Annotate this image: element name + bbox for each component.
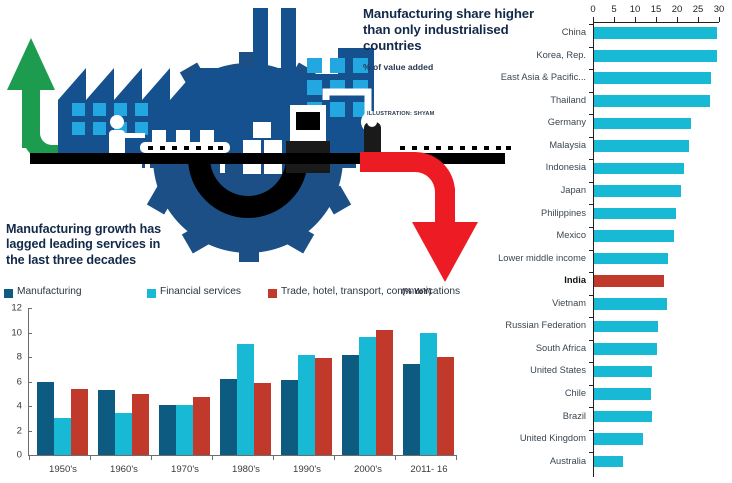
bar-chart-row-tick: [589, 407, 594, 408]
column-chart-bar[interactable]: [237, 344, 254, 455]
column-chart-bar[interactable]: [159, 405, 176, 455]
column-chart-group[interactable]: [220, 308, 281, 455]
column-chart-bar[interactable]: [403, 364, 420, 455]
column-chart-group[interactable]: [281, 308, 342, 455]
column-chart-y-label: 4: [17, 401, 22, 412]
bar-chart-bar[interactable]: [594, 118, 691, 130]
bar-chart-tick: [614, 17, 615, 22]
bar-chart-row-tick: [589, 114, 594, 115]
illustration-credit: ILLUSTRATION: SHYAM: [367, 110, 435, 118]
bar-chart-row-tick: [589, 204, 594, 205]
column-chart-bar[interactable]: [254, 383, 271, 455]
column-chart-bar[interactable]: [71, 389, 88, 455]
bar-chart-tick: [698, 17, 699, 22]
bar-chart-row[interactable]: Australia: [460, 452, 732, 475]
column-chart-bar[interactable]: [420, 333, 437, 456]
bar-chart-bar[interactable]: [594, 456, 623, 468]
legend-swatch: [147, 289, 156, 298]
bar-chart-category-label: China: [562, 27, 586, 37]
bar-chart-top-axis: [593, 22, 719, 23]
column-chart-unit-label: (% YoY): [402, 287, 431, 296]
bar-chart-tick: [593, 17, 594, 22]
bar-chart-row-tick: [589, 295, 594, 296]
bar-chart-row-tick: [589, 47, 594, 48]
column-chart-x-tick: [273, 455, 274, 460]
bar-chart-category-label: East Asia & Pacific...: [501, 72, 586, 82]
bar-chart-bar[interactable]: [594, 253, 668, 265]
column-chart-y-tick: [28, 308, 32, 309]
bar-chart-row-tick: [589, 340, 594, 341]
bar-chart-category-label: Malaysia: [549, 140, 586, 150]
bar-chart-row[interactable]: South Africa: [460, 340, 732, 363]
bar-chart-category-label: Lower middle income: [498, 253, 586, 263]
column-chart-x-tick: [151, 455, 152, 460]
bar-chart-row[interactable]: Chile: [460, 385, 732, 408]
column-chart-y-tick: [28, 357, 32, 358]
column-chart-group[interactable]: [37, 308, 98, 455]
manufacturing-share-bar-chart: 051015202530 ChinaKorea, Rep.East Asia &…: [460, 0, 732, 483]
bar-chart-tick-label: 15: [651, 4, 662, 15]
bar-chart-row-tick: [589, 92, 594, 93]
column-chart-y-tick: [28, 406, 32, 407]
column-chart-y-label: 10: [11, 327, 22, 338]
bar-chart-row[interactable]: Malaysia: [460, 137, 732, 160]
column-chart-bar[interactable]: [37, 382, 54, 456]
bar-chart-bar[interactable]: [594, 343, 657, 355]
bar-chart-category-label: Mexico: [557, 230, 586, 240]
column-chart-x-tick: [212, 455, 213, 460]
column-chart-bar[interactable]: [54, 418, 71, 455]
bar-chart-row-tick: [589, 362, 594, 363]
bar-chart-bar[interactable]: [594, 366, 652, 378]
bar-chart-row-tick: [589, 227, 594, 228]
bar-chart-row[interactable]: Indonesia: [460, 159, 732, 182]
bar-chart-category-label: Brazil: [563, 411, 586, 421]
bar-chart-row[interactable]: Philippines: [460, 204, 732, 227]
bar-chart-bar[interactable]: [594, 72, 711, 84]
bar-chart-row-tick: [589, 159, 594, 160]
column-chart-y-label: 8: [17, 352, 22, 363]
bar-chart-bar[interactable]: [594, 163, 684, 175]
bar-chart-category-label: Indonesia: [546, 162, 586, 172]
bar-chart-category-label: South Africa: [536, 343, 586, 353]
bar-chart-category-label: Korea, Rep.: [536, 50, 586, 60]
bar-chart-bar[interactable]: [594, 50, 717, 62]
column-chart-x-tick: [395, 455, 396, 460]
legend-swatch: [4, 289, 13, 298]
infographic-root: Manufacturing share higher than only ind…: [0, 0, 732, 483]
bar-chart-tick-label: 30: [714, 4, 725, 15]
column-chart-y-label: 2: [17, 425, 22, 436]
legend-label: Trade, hotel, transport, communications: [281, 286, 460, 297]
bar-chart-tick-label: 0: [590, 4, 595, 15]
column-chart-x-label: 2011- 16: [410, 464, 447, 475]
column-chart-bar[interactable]: [220, 379, 237, 455]
column-chart-x-label: 1980's: [232, 464, 260, 475]
bar-chart-row[interactable]: Germany: [460, 114, 732, 137]
bar-chart-tick-label: 25: [693, 4, 704, 15]
column-chart-y-tick: [28, 382, 32, 383]
bar-chart-tick-label: 20: [672, 4, 683, 15]
right-chart-subtitle: % of value added: [363, 62, 433, 72]
factory-building: [58, 8, 374, 160]
bar-chart-bar[interactable]: [594, 185, 681, 197]
bar-chart-tick: [635, 17, 636, 22]
bar-chart-category-label: United States: [530, 365, 586, 375]
column-chart-x-axis: [28, 455, 456, 456]
bar-chart-tick: [656, 17, 657, 22]
manufacturing-growth-column-chart: ManufacturingFinancial servicesTrade, ho…: [0, 286, 460, 483]
column-chart-y-label: 0: [17, 450, 22, 461]
bar-chart-category-label: United Kingdom: [520, 433, 586, 443]
column-chart-bar[interactable]: [376, 330, 393, 455]
bar-chart-row-tick: [589, 385, 594, 386]
bar-chart-tick: [719, 17, 720, 22]
column-chart-bar[interactable]: [176, 405, 193, 455]
column-chart-y-label: 6: [17, 376, 22, 387]
bar-chart-bar[interactable]: [594, 298, 667, 310]
bar-chart-category-label: Thailand: [550, 95, 586, 105]
bar-chart-category-label: Australia: [550, 456, 586, 466]
bar-chart-bar[interactable]: [594, 321, 658, 333]
bar-chart-category-label: Germany: [548, 117, 586, 127]
column-chart-y-tick: [28, 431, 32, 432]
column-chart-group[interactable]: [159, 308, 220, 455]
bar-chart-row-tick: [589, 182, 594, 183]
bar-chart-row-tick: [589, 317, 594, 318]
column-chart-x-label: 2000's: [354, 464, 382, 475]
column-chart-x-label: 1960's: [110, 464, 138, 475]
bar-chart-bar[interactable]: [594, 95, 710, 107]
bar-chart-row-tick: [589, 430, 594, 431]
bar-chart-category-label: Vietnam: [552, 298, 586, 308]
column-chart-bar[interactable]: [437, 357, 454, 455]
bar-chart-row[interactable]: Russian Federation: [460, 317, 732, 340]
column-chart-bar[interactable]: [315, 358, 332, 455]
column-chart-bar[interactable]: [359, 337, 376, 455]
bar-chart-bar[interactable]: [594, 433, 643, 445]
bar-chart-row[interactable]: China: [460, 24, 732, 47]
bar-chart-bar[interactable]: [594, 388, 651, 400]
bar-chart-tick-label: 10: [630, 4, 641, 15]
bar-chart-row[interactable]: India: [460, 272, 732, 295]
column-chart-y-label: 12: [11, 303, 22, 314]
bottom-chart-headline: Manufacturing growth has lagged leading …: [6, 222, 181, 268]
bar-chart-category-label: Philippines: [541, 208, 586, 218]
bar-chart-tick: [677, 17, 678, 22]
bar-chart-row-tick: [589, 137, 594, 138]
column-chart-bar[interactable]: [115, 413, 132, 455]
column-chart-bar[interactable]: [281, 380, 298, 455]
column-chart-x-tick: [90, 455, 91, 460]
bar-chart-tick-label: 5: [611, 4, 616, 15]
bar-chart-row[interactable]: Thailand: [460, 92, 732, 115]
bar-chart-row[interactable]: United Kingdom: [460, 430, 732, 453]
bar-chart-bar[interactable]: [594, 275, 664, 287]
column-chart-y-tick: [28, 333, 32, 334]
column-chart-bar[interactable]: [98, 390, 115, 455]
column-chart-group[interactable]: [98, 308, 159, 455]
bar-chart-row[interactable]: Brazil: [460, 407, 732, 430]
legend-swatch: [268, 289, 277, 298]
bar-chart-bar[interactable]: [594, 411, 652, 423]
bar-chart-row-tick: [589, 24, 594, 25]
bar-chart-row[interactable]: Lower middle income: [460, 250, 732, 273]
column-chart-x-tick: [456, 455, 457, 460]
bar-chart-row-tick: [589, 250, 594, 251]
column-chart-group[interactable]: [403, 308, 464, 455]
bar-chart-bar[interactable]: [594, 208, 676, 220]
column-chart-x-tick: [334, 455, 335, 460]
column-chart-x-tick: [29, 455, 30, 460]
legend-label: Manufacturing: [17, 286, 82, 297]
bar-chart-row-tick: [589, 272, 594, 273]
bar-chart-bar[interactable]: [594, 140, 689, 152]
column-chart-x-label: 1950's: [49, 464, 77, 475]
bar-chart-category-label: Russian Federation: [505, 320, 586, 330]
bar-chart-row[interactable]: Mexico: [460, 227, 732, 250]
column-chart-bar[interactable]: [342, 355, 359, 455]
column-chart-x-label: 1970's: [171, 464, 199, 475]
column-chart-x-label: 1990's: [293, 464, 321, 475]
column-chart-bar[interactable]: [298, 355, 315, 455]
bar-chart-row[interactable]: United States: [460, 362, 732, 385]
bar-chart-row[interactable]: Japan: [460, 182, 732, 205]
bar-chart-row[interactable]: East Asia & Pacific...: [460, 69, 732, 92]
bar-chart-row-tick: [589, 69, 594, 70]
bar-chart-category-label: Chile: [565, 388, 586, 398]
column-chart-group[interactable]: [342, 308, 403, 455]
bar-chart-row-tick: [589, 452, 594, 453]
bar-chart-category-label: India: [564, 275, 586, 285]
bar-chart-bar[interactable]: [594, 27, 717, 39]
bar-chart-bar[interactable]: [594, 230, 674, 242]
bar-chart-row[interactable]: Vietnam: [460, 295, 732, 318]
column-chart-bar[interactable]: [132, 394, 149, 455]
bar-chart-row[interactable]: Korea, Rep.: [460, 47, 732, 70]
legend-label: Financial services: [160, 286, 241, 297]
bar-chart-category-label: Japan: [561, 185, 586, 195]
column-chart-bar[interactable]: [193, 397, 210, 455]
